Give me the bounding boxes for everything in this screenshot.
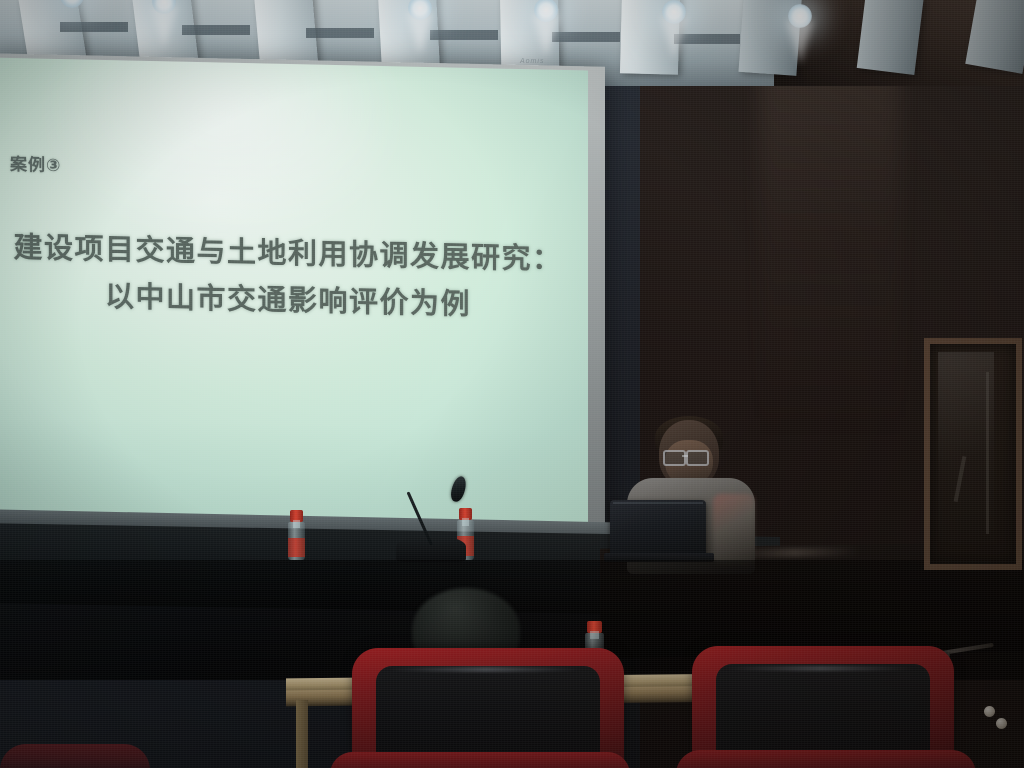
light-cone — [787, 20, 813, 64]
light-cone — [407, 12, 433, 56]
ceiling-baffle — [965, 0, 1024, 74]
eyeglasses-bridge — [682, 455, 688, 457]
ceiling-slat-gap — [430, 30, 498, 40]
light-cone — [533, 14, 559, 58]
presenter-shirt-pattern — [713, 494, 755, 564]
seat-cushion — [330, 752, 630, 768]
laptop-lid-edge — [613, 502, 703, 504]
ceiling-slat-gap — [60, 22, 128, 32]
light-cone — [661, 16, 687, 60]
water-bottle — [288, 510, 305, 560]
rail-knob — [984, 706, 995, 717]
bottle-neck — [293, 520, 300, 528]
auditorium-seat — [352, 648, 624, 768]
bottle-label — [288, 538, 305, 557]
lecture-hall-photo: Aomis 案例③ 建设项目交通与土地利用协调发展研究： 以中山市交通影响评价为… — [0, 0, 1024, 768]
bottle-neck — [462, 518, 469, 526]
seat-cushion — [676, 750, 976, 768]
laptop — [610, 500, 706, 556]
ceiling-slat-gap — [306, 28, 374, 38]
wooden-desk-leg — [296, 700, 308, 768]
ceiling-slat-gap — [182, 25, 250, 35]
ceiling-baffle — [857, 0, 924, 75]
bottle-neck — [590, 631, 598, 639]
projection-screen: 案例③ 建设项目交通与土地利用协调发展研究： 以中山市交通影响评价为例 — [0, 57, 588, 532]
ceiling-slat-gap — [552, 32, 620, 42]
rail-knob — [996, 718, 1007, 729]
eyeglasses-icon — [686, 450, 709, 466]
screen-vignette — [0, 57, 588, 532]
seat-highlight — [723, 666, 917, 671]
seat-cushion — [0, 744, 150, 768]
light-cone — [151, 6, 177, 50]
side-door-mullion — [986, 372, 989, 534]
eyeglasses-icon — [663, 450, 686, 466]
